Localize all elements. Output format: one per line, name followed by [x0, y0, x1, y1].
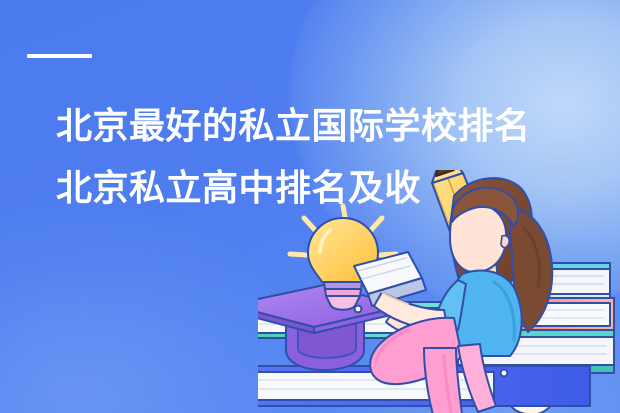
promo-banner: 北京最好的私立国际学校排名 北京私立高中排名及收: [0, 0, 620, 413]
student-reading-illustration: [258, 170, 620, 413]
accent-rule: [27, 54, 92, 58]
headline-line-1: 北京最好的私立国际学校排名: [56, 96, 616, 158]
